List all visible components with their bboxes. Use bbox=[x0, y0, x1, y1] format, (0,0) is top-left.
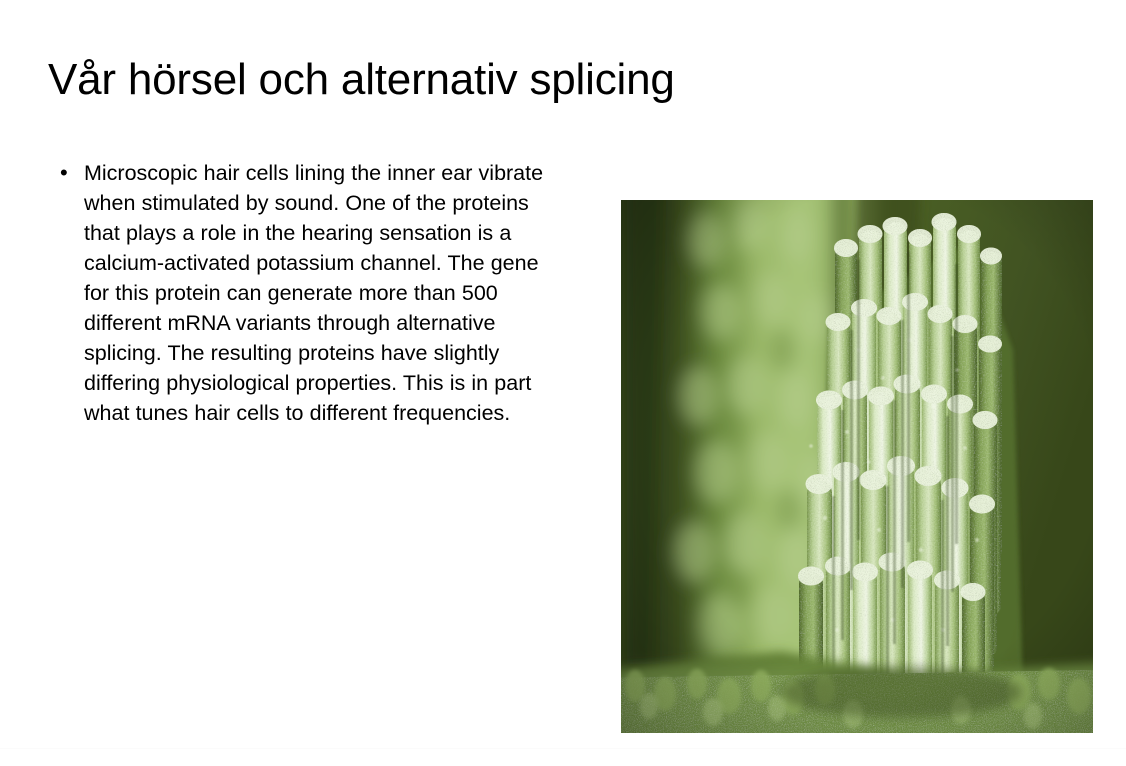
body-content-placeholder: • Microscopic hair cells lining the inne… bbox=[56, 158, 556, 428]
bullet-list-item: • Microscopic hair cells lining the inne… bbox=[56, 158, 556, 428]
stereocilia-micrograph-image bbox=[621, 200, 1093, 733]
presentation-slide: Vår hörsel och alternativ splicing • Mic… bbox=[0, 0, 1126, 766]
slide-bottom-edge bbox=[0, 748, 1126, 749]
micrograph-illustration bbox=[621, 200, 1093, 733]
slide-title: Vår hörsel och alternativ splicing bbox=[48, 55, 1068, 106]
bullet-item-text: Microscopic hair cells lining the inner … bbox=[84, 158, 556, 428]
bullet-marker-icon: • bbox=[56, 158, 84, 188]
